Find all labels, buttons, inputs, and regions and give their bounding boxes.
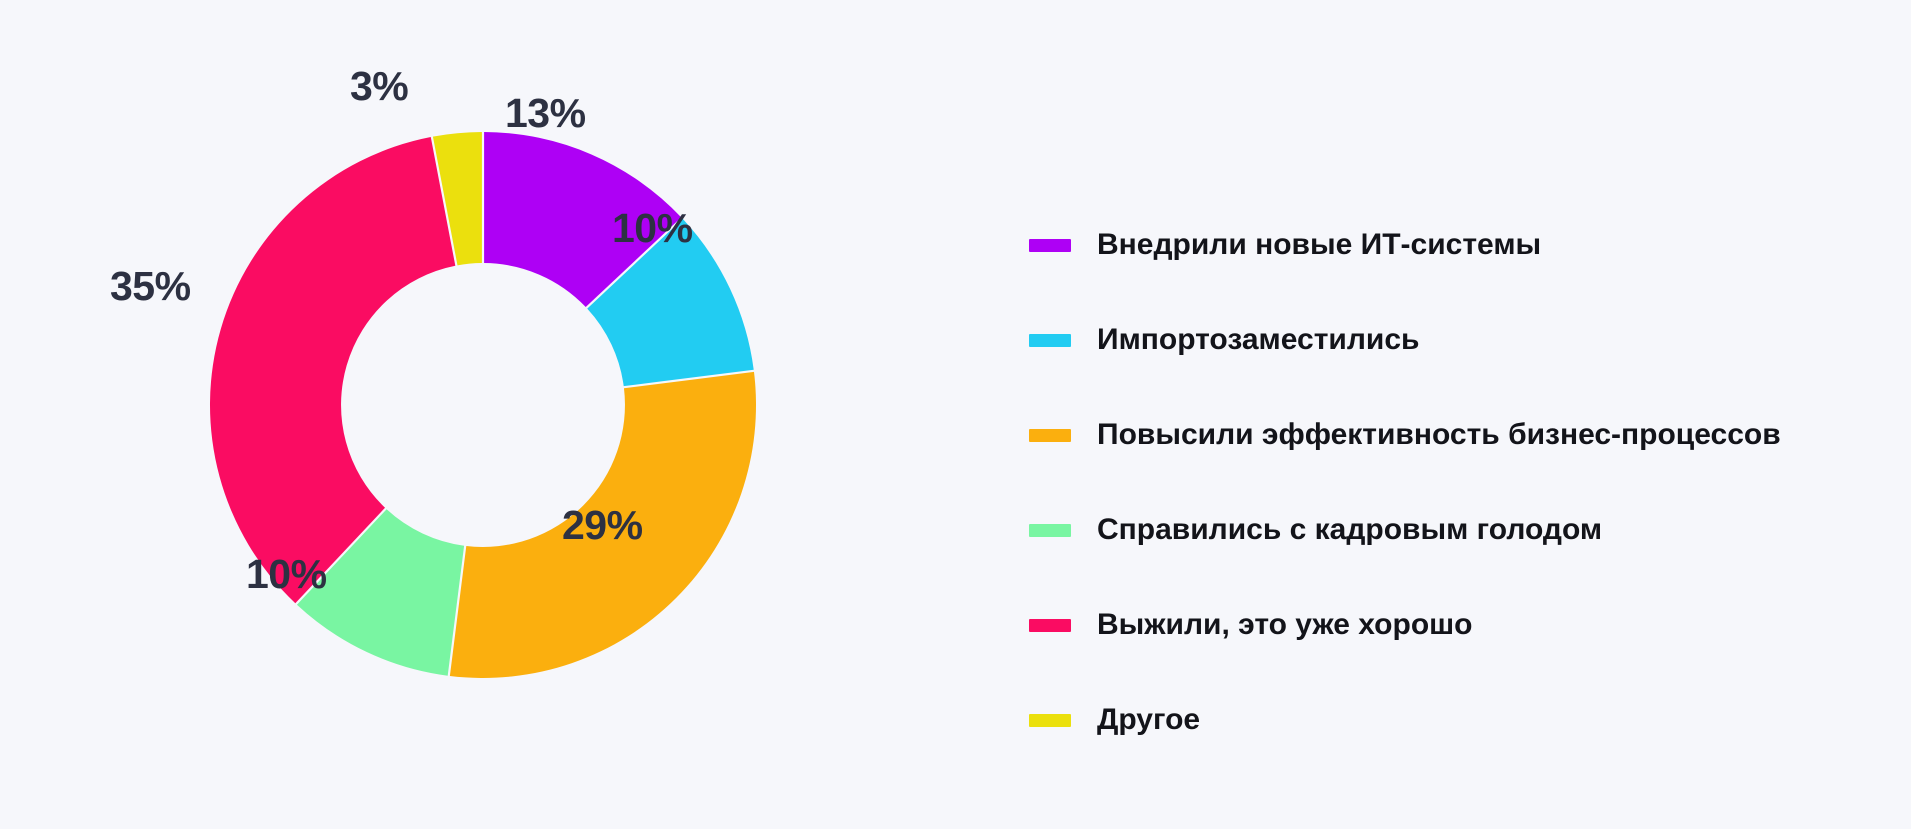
data-label-it-systems: 13% (505, 93, 586, 134)
legend-color-swatch (1029, 429, 1071, 442)
legend-item[interactable]: Повысили эффективность бизнес-процессов (1029, 418, 1879, 452)
legend-item-label: Импортозаместились (1097, 325, 1420, 355)
donut-chart-figure: 3% 13% 10% 29% 10% 35% Внедрили новые ИТ… (0, 0, 1911, 829)
legend-item-label: Внедрили новые ИТ-системы (1097, 230, 1541, 260)
legend-item[interactable]: Импортозаместились (1029, 323, 1879, 357)
legend-item[interactable]: Другое (1029, 703, 1879, 737)
legend-item-label: Другое (1097, 705, 1200, 735)
legend-item[interactable]: Выжили, это уже хорошо (1029, 608, 1879, 642)
donut-chart-svg (0, 0, 1000, 829)
data-label-business-efficiency: 29% (562, 505, 643, 546)
legend-item-label: Выжили, это уже хорошо (1097, 610, 1472, 640)
legend-item[interactable]: Внедрили новые ИТ-системы (1029, 228, 1879, 262)
legend-color-swatch (1029, 239, 1071, 252)
data-label-import-substitution: 10% (612, 208, 693, 249)
legend-color-swatch (1029, 524, 1071, 537)
chart-legend: Внедрили новые ИТ-системыИмпортозаместил… (1029, 228, 1879, 737)
donut-chart-plot-area: 3% 13% 10% 29% 10% 35% (0, 0, 1000, 829)
data-label-survived: 35% (110, 266, 191, 307)
legend-item-label: Повысили эффективность бизнес-процессов (1097, 420, 1781, 450)
legend-color-swatch (1029, 334, 1071, 347)
legend-color-swatch (1029, 619, 1071, 632)
data-label-staffing: 10% (246, 554, 327, 595)
legend-color-swatch (1029, 714, 1071, 727)
data-label-other: 3% (350, 66, 408, 107)
legend-item-label: Справились с кадровым голодом (1097, 515, 1602, 545)
legend-item[interactable]: Справились с кадровым голодом (1029, 513, 1879, 547)
